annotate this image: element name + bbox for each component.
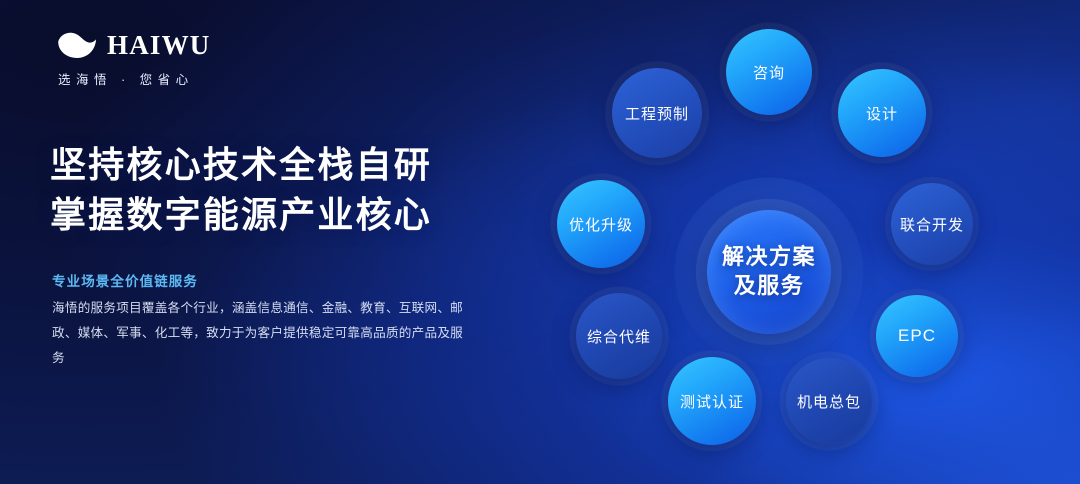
left-content-column: HAIWU 选海悟 · 您省心 坚持核心技术全栈自研 掌握数字能源产业核心 专业… [48,0,498,484]
haiwu-wave-logo-icon [56,30,98,60]
service-node-9[interactable]: 机电总包 [786,358,872,444]
service-node-label: 联合开发 [900,214,964,235]
service-node-8[interactable]: 测试认证 [668,357,756,445]
service-node-7[interactable]: EPC [876,295,958,377]
service-node-label: 综合代维 [587,326,651,347]
headline: 坚持核心技术全栈自研 掌握数字能源产业核心 [50,140,432,241]
service-node-1[interactable]: 咨询 [726,29,812,115]
service-node-label: 设计 [866,103,898,124]
banner-stage: 解决方案及服务咨询工程预制设计优化升级联合开发综合代维EPC测试认证机电总包 H… [0,0,1080,484]
headline-line-2: 掌握数字能源产业核心 [50,190,432,240]
brand-wordmark: HAIWU [107,32,211,59]
service-node-label: EPC [898,326,936,346]
service-node-5[interactable]: 联合开发 [891,183,973,265]
center-node-label-line-2: 及服务 [734,272,805,301]
service-node-label: 优化升级 [569,214,633,235]
service-node-6[interactable]: 综合代维 [576,293,662,379]
service-node-3[interactable]: 设计 [838,69,926,157]
service-node-label: 工程预制 [625,103,689,124]
center-node-solution-service[interactable]: 解决方案及服务 [707,210,831,334]
brand-tagline: 选海悟 · 您省心 [58,69,296,88]
service-node-2[interactable]: 工程预制 [612,68,702,158]
headline-line-1: 坚持核心技术全栈自研 [50,140,432,190]
service-node-label: 机电总包 [797,391,861,412]
center-node-label-line-1: 解决方案 [722,243,816,272]
service-node-label: 咨询 [753,62,785,83]
service-node-label: 测试认证 [680,391,744,412]
subheadline: 专业场景全价值链服务 [52,270,198,290]
body-paragraph: 海悟的服务项目覆盖各个行业，涵盖信息通信、金融、教育、互联网、邮政、媒体、军事、… [52,296,472,372]
service-node-4[interactable]: 优化升级 [557,180,645,268]
brand-lockup: HAIWU 选海悟 · 您省心 [56,30,296,88]
